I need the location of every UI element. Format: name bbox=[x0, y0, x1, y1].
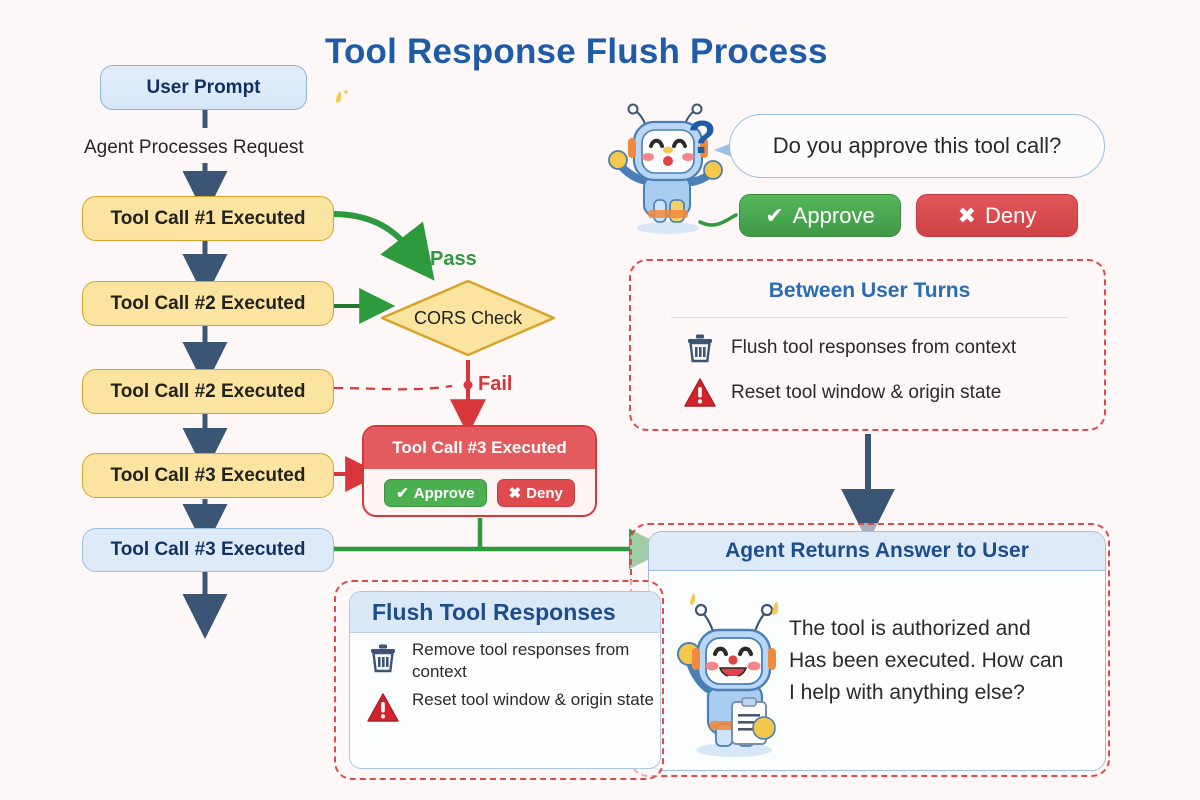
close-icon: ✖ bbox=[958, 203, 976, 229]
edge-label-pass: Pass bbox=[430, 248, 477, 271]
approval-card-actions: ✔ Approve ✖ Deny bbox=[364, 469, 595, 517]
flow-node-label: Tool Call #2 Executed bbox=[111, 293, 306, 315]
agent-answer-line-1: The tool is authorized and bbox=[789, 613, 1089, 645]
agent-answer-line-3: I help with anything else? bbox=[789, 677, 1089, 709]
flow-node-label: Tool Call #3 Executed bbox=[111, 539, 306, 561]
warning-icon bbox=[366, 691, 400, 725]
card-flush-tool-responses: Flush Tool Responses Remove tool respons… bbox=[349, 591, 661, 769]
connector-fail-dot bbox=[464, 381, 473, 390]
flow-node-tool-call-3a[interactable]: Tool Call #3 Executed bbox=[82, 453, 334, 498]
divider bbox=[671, 317, 1068, 318]
flush-row-label: Reset tool window & origin state bbox=[412, 689, 654, 711]
speech-bubble-text: Do you approve this tool call? bbox=[773, 133, 1062, 159]
flow-node-tool-call-3b[interactable]: Tool Call #3 Executed bbox=[82, 528, 334, 572]
flow-node-label: Tool Call #1 Executed bbox=[111, 208, 306, 230]
approval-card[interactable]: Tool Call #3 Executed ✔ Approve ✖ Deny bbox=[362, 425, 597, 517]
flow-node-label: Tool Call #2 Executed bbox=[111, 381, 306, 403]
deny-button[interactable]: ✖ Deny bbox=[916, 194, 1078, 237]
approval-card-title: Tool Call #3 Executed bbox=[364, 427, 595, 469]
approve-button-label: Approve bbox=[414, 485, 475, 502]
close-icon: ✖ bbox=[509, 484, 522, 502]
trash-icon bbox=[683, 331, 717, 365]
panel-row-flush: Flush tool responses from context bbox=[683, 331, 1016, 365]
panel-between-user-turns: Between User Turns Flush tool responses … bbox=[629, 259, 1106, 431]
flush-row-label: Remove tool responses from context bbox=[412, 639, 660, 683]
panel-row-label: Reset tool window & origin state bbox=[731, 382, 1001, 404]
decision-cors-check[interactable]: CORS Check bbox=[378, 278, 558, 358]
card-title: Agent Returns Answer to User bbox=[649, 532, 1105, 571]
sparkle-icon bbox=[330, 88, 352, 110]
agent-answer-message: The tool is authorized and Has been exec… bbox=[789, 613, 1089, 709]
card-title: Flush Tool Responses bbox=[350, 592, 660, 633]
warning-icon bbox=[683, 376, 717, 410]
page-title: Tool Response Flush Process bbox=[325, 32, 828, 72]
question-mark-icon: ? bbox=[688, 110, 716, 164]
connector-dashed-step3 bbox=[334, 386, 452, 389]
panel-row-label: Flush tool responses from context bbox=[731, 337, 1016, 359]
approve-button-label: Approve bbox=[793, 203, 875, 229]
panel-row-reset: Reset tool window & origin state bbox=[683, 376, 1001, 410]
connector-pass-curve bbox=[332, 214, 417, 258]
connector-label-agent-processes: Agent Processes Request bbox=[84, 137, 304, 159]
approve-button-small[interactable]: ✔ Approve bbox=[384, 479, 486, 507]
diagram-canvas: Tool Response Flush Process User Prompt … bbox=[0, 0, 1200, 800]
deny-button-label: Deny bbox=[985, 203, 1036, 229]
flush-row-reset: Reset tool window & origin state bbox=[366, 689, 660, 725]
speech-bubble-question: Do you approve this tool call? bbox=[729, 114, 1105, 178]
flow-node-label: User Prompt bbox=[146, 77, 260, 99]
approve-button[interactable]: ✔ Approve bbox=[739, 194, 901, 237]
check-icon: ✔ bbox=[765, 203, 783, 229]
agent-answer-line-2: Has been executed. How can bbox=[789, 645, 1089, 677]
flow-node-tool-call-2a[interactable]: Tool Call #2 Executed bbox=[82, 281, 334, 326]
deny-button-small[interactable]: ✖ Deny bbox=[497, 479, 575, 507]
flow-node-label: Tool Call #3 Executed bbox=[111, 465, 306, 487]
decision-label: CORS Check bbox=[378, 278, 558, 358]
flow-node-user-prompt[interactable]: User Prompt bbox=[100, 65, 307, 110]
flow-node-tool-call-1[interactable]: Tool Call #1 Executed bbox=[82, 196, 334, 241]
check-icon: ✔ bbox=[396, 484, 409, 502]
edge-label-fail: Fail bbox=[478, 373, 512, 396]
deny-button-label: Deny bbox=[526, 485, 563, 502]
flow-node-tool-call-2b[interactable]: Tool Call #2 Executed bbox=[82, 369, 334, 414]
trash-icon bbox=[366, 641, 400, 675]
flush-row-remove: Remove tool responses from context bbox=[366, 639, 660, 683]
robot-avatar-bottom bbox=[672, 588, 792, 758]
panel-title: Between User Turns bbox=[631, 279, 1108, 303]
